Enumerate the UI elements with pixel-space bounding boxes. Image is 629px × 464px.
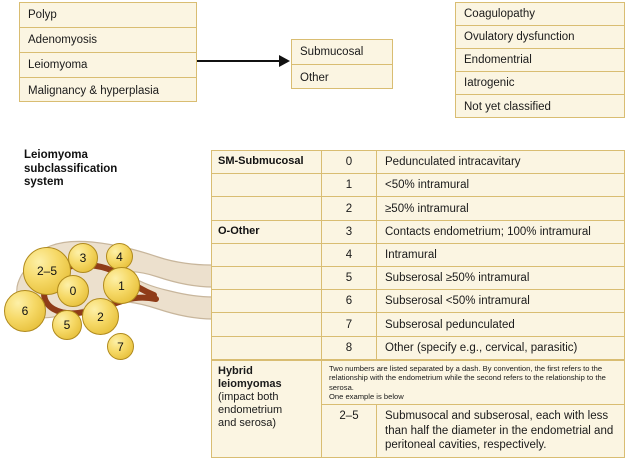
hybrid-subtitle-line-1: (impact both bbox=[218, 391, 319, 404]
category-cell-empty bbox=[212, 244, 322, 266]
list-item[interactable]: Submucosal bbox=[292, 40, 392, 65]
hybrid-content-cell: Two numbers are listed separated by a da… bbox=[322, 361, 624, 457]
list-item[interactable]: Malignancy & hyperplasia bbox=[20, 78, 196, 103]
number-cell: 6 bbox=[322, 290, 377, 312]
list-item[interactable]: Leiomyoma bbox=[20, 53, 196, 78]
number-cell: 7 bbox=[322, 313, 377, 335]
arrow-head-icon bbox=[279, 55, 290, 67]
hybrid-note-text: Two numbers are listed separated by a da… bbox=[329, 364, 606, 392]
number-cell: 2 bbox=[322, 197, 377, 219]
description-cell: Subserosal <50% intramural bbox=[377, 290, 624, 312]
description-cell: Subserosal pedunculated bbox=[377, 313, 624, 335]
hybrid-example-row[interactable]: 2–5 Submusocal and subserosal, each with… bbox=[322, 405, 624, 457]
category-cell: O-Other bbox=[212, 221, 322, 243]
list-item-label: Iatrogenic bbox=[464, 77, 515, 89]
hybrid-title-line-2: leiomyomas bbox=[218, 378, 319, 391]
fibroid-nodule-5[interactable]: 5 bbox=[52, 310, 82, 340]
list-item[interactable]: Not yet classified bbox=[456, 95, 624, 119]
hybrid-subtitle-line-3: and serosa) bbox=[218, 417, 319, 430]
arrow-line bbox=[197, 60, 281, 62]
list-item-label: Ovulatory dysfunction bbox=[464, 31, 575, 43]
table-row[interactable]: 6 Subserosal <50% intramural bbox=[212, 290, 624, 313]
fibroid-nodule-1[interactable]: 1 bbox=[103, 267, 140, 304]
hybrid-label-cell: Hybrid leiomyomas (impact both endometri… bbox=[212, 361, 322, 457]
leiomyoma-subtypes-box: Submucosal Other bbox=[291, 39, 393, 89]
hybrid-title-line-1: Hybrid bbox=[218, 365, 319, 378]
fibroid-label: 1 bbox=[118, 279, 125, 293]
table-row[interactable]: 4 Intramural bbox=[212, 244, 624, 267]
fibroid-nodule-4[interactable]: 4 bbox=[106, 243, 133, 270]
hybrid-subtitle-line-2: endometrium bbox=[218, 404, 319, 417]
list-item[interactable]: Adenomyosis bbox=[20, 28, 196, 53]
list-item-label: Adenomyosis bbox=[28, 34, 97, 46]
table-row[interactable]: 8 Other (specify e.g., cervical, parasit… bbox=[212, 337, 624, 360]
list-item-label: Not yet classified bbox=[464, 101, 551, 113]
hybrid-note-suffix: One example is below bbox=[329, 392, 404, 401]
table-row[interactable]: 1 <50% intramural bbox=[212, 174, 624, 197]
fibroid-label: 2–5 bbox=[37, 264, 57, 278]
list-item[interactable]: Other bbox=[292, 65, 392, 90]
flow-arrow bbox=[197, 55, 292, 69]
fibroid-label: 5 bbox=[64, 318, 71, 332]
table-row[interactable]: SM-Submucosal 0 Pedunculated intracavita… bbox=[212, 151, 624, 174]
list-item[interactable]: Ovulatory dysfunction bbox=[456, 26, 624, 49]
number-cell: 5 bbox=[322, 267, 377, 289]
category-cell-empty bbox=[212, 313, 322, 335]
leiomyoma-classification-table: SM-Submucosal 0 Pedunculated intracavita… bbox=[211, 150, 625, 458]
description-cell: Contacts endometrium; 100% intramural bbox=[377, 221, 624, 243]
table-row[interactable]: 5 Subserosal ≥50% intramural bbox=[212, 267, 624, 290]
fibroid-nodule-3[interactable]: 3 bbox=[68, 243, 98, 273]
table-row[interactable]: 7 Subserosal pedunculated bbox=[212, 313, 624, 336]
number-cell: 0 bbox=[322, 151, 377, 173]
number-cell: 4 bbox=[322, 244, 377, 266]
category-cell-empty bbox=[212, 197, 322, 219]
number-cell: 3 bbox=[322, 221, 377, 243]
table-row[interactable]: 2 ≥50% intramural bbox=[212, 197, 624, 220]
palm-structural-causes-box: Polyp Adenomyosis Leiomyoma Malignancy &… bbox=[19, 2, 197, 102]
list-item-label: Coagulopathy bbox=[464, 8, 535, 20]
diagram-title: Leiomyoma subclassification system bbox=[24, 149, 144, 190]
table-row[interactable]: O-Other 3 Contacts endometrium; 100% int… bbox=[212, 221, 624, 244]
description-cell: Intramural bbox=[377, 244, 624, 266]
list-item-label: Other bbox=[300, 72, 329, 84]
hybrid-example-number: 2–5 bbox=[322, 405, 377, 457]
uterus-illustration: 2–5 3 4 0 1 6 5 2 7 bbox=[0, 225, 215, 370]
description-cell: Other (specify e.g., cervical, parasitic… bbox=[377, 337, 624, 359]
hybrid-leiomyomas-section: Hybrid leiomyomas (impact both endometri… bbox=[212, 360, 624, 457]
fibroid-label: 0 bbox=[70, 284, 77, 298]
fibroid-label: 7 bbox=[117, 340, 124, 354]
fibroid-label: 6 bbox=[22, 304, 29, 318]
fibroid-label: 4 bbox=[116, 250, 123, 264]
number-cell: 1 bbox=[322, 174, 377, 196]
hybrid-example-description: Submusocal and subserosal, each with les… bbox=[377, 405, 624, 457]
fibroid-label: 2 bbox=[97, 310, 104, 324]
fibroid-nodule-2[interactable]: 2 bbox=[82, 298, 119, 335]
fibroid-label: 3 bbox=[80, 251, 87, 265]
list-item-label: Malignancy & hyperplasia bbox=[28, 85, 159, 97]
list-item-label: Polyp bbox=[28, 9, 57, 21]
category-cell-empty bbox=[212, 267, 322, 289]
list-item[interactable]: Iatrogenic bbox=[456, 72, 624, 95]
list-item[interactable]: Polyp bbox=[20, 3, 196, 28]
diagram-title-line-1: Leiomyoma bbox=[24, 149, 144, 163]
diagram-title-line-2: subclassification bbox=[24, 163, 144, 177]
description-cell: Subserosal ≥50% intramural bbox=[377, 267, 624, 289]
coein-nonstructural-causes-box: Coagulopathy Ovulatory dysfunction Endom… bbox=[455, 2, 625, 118]
fibroid-nodule-7[interactable]: 7 bbox=[107, 333, 134, 360]
category-cell-empty bbox=[212, 174, 322, 196]
fibroid-nodule-0[interactable]: 0 bbox=[57, 275, 89, 307]
hybrid-note: Two numbers are listed separated by a da… bbox=[322, 361, 624, 406]
category-cell-empty bbox=[212, 290, 322, 312]
list-item-label: Endomentrial bbox=[464, 54, 532, 66]
list-item-label: Leiomyoma bbox=[28, 59, 87, 71]
fibroid-nodule-6[interactable]: 6 bbox=[4, 290, 46, 332]
list-item[interactable]: Endomentrial bbox=[456, 49, 624, 72]
category-cell: SM-Submucosal bbox=[212, 151, 322, 173]
description-cell: <50% intramural bbox=[377, 174, 624, 196]
diagram-title-line-3: system bbox=[24, 176, 144, 190]
category-cell-empty bbox=[212, 337, 322, 359]
description-cell: Pedunculated intracavitary bbox=[377, 151, 624, 173]
list-item-label: Submucosal bbox=[300, 46, 363, 58]
number-cell: 8 bbox=[322, 337, 377, 359]
description-cell: ≥50% intramural bbox=[377, 197, 624, 219]
list-item[interactable]: Coagulopathy bbox=[456, 3, 624, 26]
